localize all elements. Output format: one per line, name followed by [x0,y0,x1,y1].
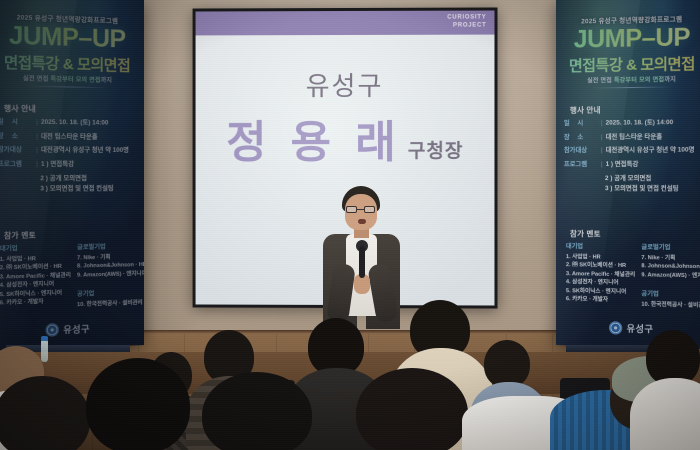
audience-member [180,372,330,450]
tagline-pre: 실전 면접 [587,78,614,84]
head [484,340,530,388]
logo-line-2: PROJECT [447,22,486,30]
tagline-highlight: 특강부터 모의 면접 [614,77,664,84]
info-value: 2025. 10. 18. (토) 14:00 [41,119,108,128]
glasses-icon [364,206,375,213]
mentor-item: 9. Amazon(AWS) · 엔지니어 [641,271,700,281]
banner-divider [592,87,671,89]
info-label: 참가대상 [0,146,33,154]
program-extra-2: 3 ) 모의면접 및 면접 컨설팅 [40,184,140,194]
yuseong-emblem-icon [46,323,59,337]
info-label: 프로그램 [564,160,598,168]
mouth [358,219,366,224]
info-label: 참가대상 [564,147,598,155]
yuseong-emblem-icon [609,321,622,334]
glasses-bridge [357,209,364,210]
slide-org-name: 유성구 [196,66,495,104]
info-value: 대전 팁스타운 타운홀 [41,133,98,142]
info-sep: | [36,160,38,168]
info-row: 장 소 | 대전 팁스타운 타운홀 [0,132,140,141]
banner-divider [27,86,107,89]
mentor-col-head: 글로벌기업 [641,242,700,252]
banner-logo: 유성구 [0,320,144,339]
mentor-item: 6. 카카오 · 개발자 [566,295,635,305]
head [202,372,312,450]
info-value: 대전 팁스타운 타운홀 [606,133,663,141]
info-row: 장 소 | 대전 팁스타운 타운홀 [564,133,700,142]
torso [630,378,700,450]
banner-right: 2025 유성구 청년역량강화프로그램 JUMP–UP 면접특강 & 모의면접 … [556,0,700,349]
banner-info-rows: 일 시 | 2025. 10. 18. (토) 14:00 장 소 | 대전 팁… [0,118,140,194]
mentor-col-global: 글로벌기업 7. Nike · 기획 8. Johnson&Johnson · … [641,242,700,311]
info-sep: | [36,132,38,140]
mentor-col-head: 대기업 [566,241,635,251]
info-row: 프로그램 | 1 ) 면접특강 [0,160,140,168]
head [86,358,190,450]
mentor-col-head-2: 공기업 [77,287,144,298]
banner-info-rows: 일 시 | 2025. 10. 18. (토) 14:00 장 소 | 대전 팁… [564,119,700,194]
banner-section-mentor: 참가 멘토 [4,229,36,241]
info-row: 프로그램 | 1 ) 면접특강 [564,160,700,168]
banner-mentor-columns: 대기업 1. 사업업 · HR 2. ㈜ SK이노베이션 · HR 3. Amo… [566,241,700,311]
microphone-handle [359,246,365,278]
program-extra-1: 2 ) 공개 모의면접 [605,174,700,184]
presenter [318,186,404,336]
banner-section-info: 행사 안내 [570,105,601,116]
info-label: 일 시 [0,118,33,127]
info-sep: | [36,146,38,154]
tagline-post: 까지 [101,78,112,84]
info-value: 2025. 10. 18. (토) 14:00 [606,119,674,128]
banner-mentor-columns: 대기업 1. 사업업 · HR 2. ㈜ SK이노베이션 · HR 3. Amo… [0,241,144,312]
banner-headline: JUMP–UP [556,23,700,55]
info-label: 일 시 [564,120,598,128]
mentor-col-global: 글로벌기업 7. Nike · 기획 8. Johnson&Johnson · … [77,241,144,310]
banner-section-mentor: 참가 멘토 [570,228,601,239]
info-row: 일 시 | 2025. 10. 18. (토) 14:00 [0,118,140,128]
info-row: 일 시 | 2025. 10. 18. (토) 14:00 [564,119,700,128]
mentor-col-head: 대기업 [0,242,71,253]
tagline-post: 까지 [664,77,676,83]
tagline-highlight: 특강부터 모의 면접 [50,77,100,84]
mentor-item: 10. 한국전력공사 · 설비관리 [77,299,144,310]
banner-section-info: 행사 안내 [4,103,36,115]
mentor-col-head: 글로벌기업 [77,241,144,251]
info-sep: | [601,120,603,128]
slide-name-line: 정 용 래구청장 [196,106,495,170]
info-label: 장 소 [564,133,598,141]
banner-left: 2025 유성구 청년역량강화프로그램 JUMP–UP 면접특강 & 모의면접 … [0,0,144,351]
mentor-col-large: 대기업 1. 사업업 · HR 2. ㈜ SK이노베이션 · HR 3. Amo… [566,241,635,309]
conference-photo-scene: 2025 유성구 청년역량강화프로그램 JUMP–UP 면접특강 & 모의면접 … [0,0,700,450]
mentor-col-head-2: 공기업 [641,289,700,299]
info-label: 장 소 [0,132,33,141]
curiosity-project-logo: CURIOSITY PROJECT [447,15,486,30]
info-sep: | [601,133,603,141]
mentor-item: 9. Amazon(AWS) · 엔지니어 [77,270,144,280]
tagline-pre: 실전 면접 [23,76,51,83]
banner-subhead: 면접특강 & 모의면접 [556,52,700,76]
slide-person-title: 구청장 [408,141,464,162]
info-sep: | [601,147,603,155]
info-value: 대전광역시 유성구 청년 약 100명 [606,146,695,154]
info-sep: | [36,119,38,127]
program-extra-1: 2 ) 공개 모의면접 [40,174,140,184]
water-bottle-cap [41,336,48,341]
info-row: 참가대상 | 대전광역시 유성구 청년 약 100명 [564,146,700,155]
info-label: 프로그램 [0,160,33,168]
info-value: 1 ) 면접특강 [41,160,74,168]
banner-headline: JUMP–UP [0,20,144,55]
mentor-col-large: 대기업 1. 사업업 · HR 2. ㈜ SK이노베이션 · HR 3. Amo… [0,242,71,312]
head [356,368,468,450]
banner-logo-text: 유성구 [63,322,90,336]
audience-member [640,330,700,450]
mentor-item: 10. 한국전력공사 · 설비관리 [641,301,700,311]
glasses-icon [346,206,357,213]
info-row: 참가대상 | 대전광역시 유성구 청년 약 100명 [0,146,140,155]
info-value: 대전광역시 유성구 청년 약 100명 [41,146,129,155]
info-sep: | [601,160,603,168]
info-value: 1 ) 면접특강 [606,160,639,168]
program-extra-2: 3 ) 모의면접 및 면접 컨설팅 [605,184,700,194]
slide-person-name: 정 용 래 [226,118,402,167]
mentor-item: 6. 카카오 · 개발자 [0,297,71,308]
slide-header-band: CURIOSITY PROJECT [196,10,495,35]
banner-tagline: 실전 면접 특강부터 모의 면접까지 [556,74,700,85]
logo-line-1: CURIOSITY [447,15,486,23]
